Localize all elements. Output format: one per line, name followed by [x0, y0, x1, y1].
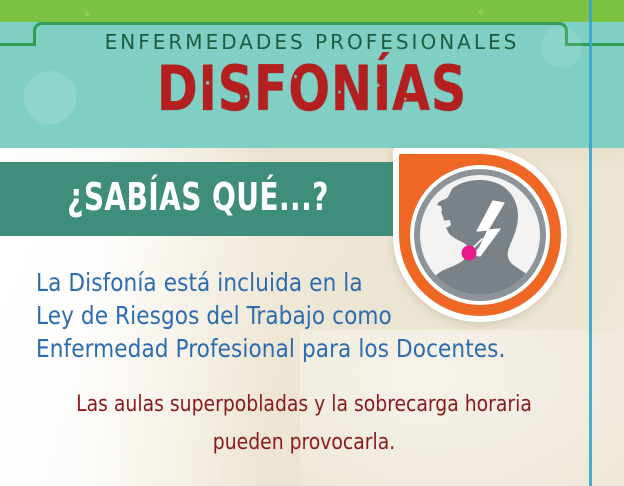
secondary-copy-line-2: pueden provocarla. — [15, 424, 593, 462]
primary-copy-line-3: Enfermedad Profesional para los Docentes… — [36, 332, 535, 365]
pain-dot-icon — [462, 246, 477, 261]
header-headline-wrap: DISFONÍAS — [37, 58, 586, 120]
primary-copy-line-1: La Disfonía está incluida en la — [36, 266, 535, 299]
callout-label: ¿SABÍAS QUÉ...? — [67, 175, 329, 219]
nose-notch — [433, 205, 442, 213]
primary-copy: La Disfonía está incluida en la Ley de R… — [36, 266, 535, 365]
callout-label-wrap: ¿SABÍAS QUÉ...? — [36, 174, 361, 220]
primary-copy-line-2: Ley de Riesgos del Trabajo como — [36, 299, 535, 332]
right-vertical-rule — [589, 0, 592, 486]
poster-canvas: ENFERMEDADES PROFESIONALES DISFONÍAS ¿SA… — [0, 0, 624, 486]
callout-banner: ¿SABÍAS QUÉ...? — [0, 162, 396, 236]
secondary-copy: Las aulas superpobladas y la sobrecarga … — [15, 386, 593, 462]
header-kicker: ENFERMEDADES PROFESIONALES — [0, 30, 624, 54]
secondary-copy-line-1: Las aulas superpobladas y la sobrecarga … — [15, 386, 593, 424]
header-headline: DISFONÍAS — [157, 52, 467, 125]
